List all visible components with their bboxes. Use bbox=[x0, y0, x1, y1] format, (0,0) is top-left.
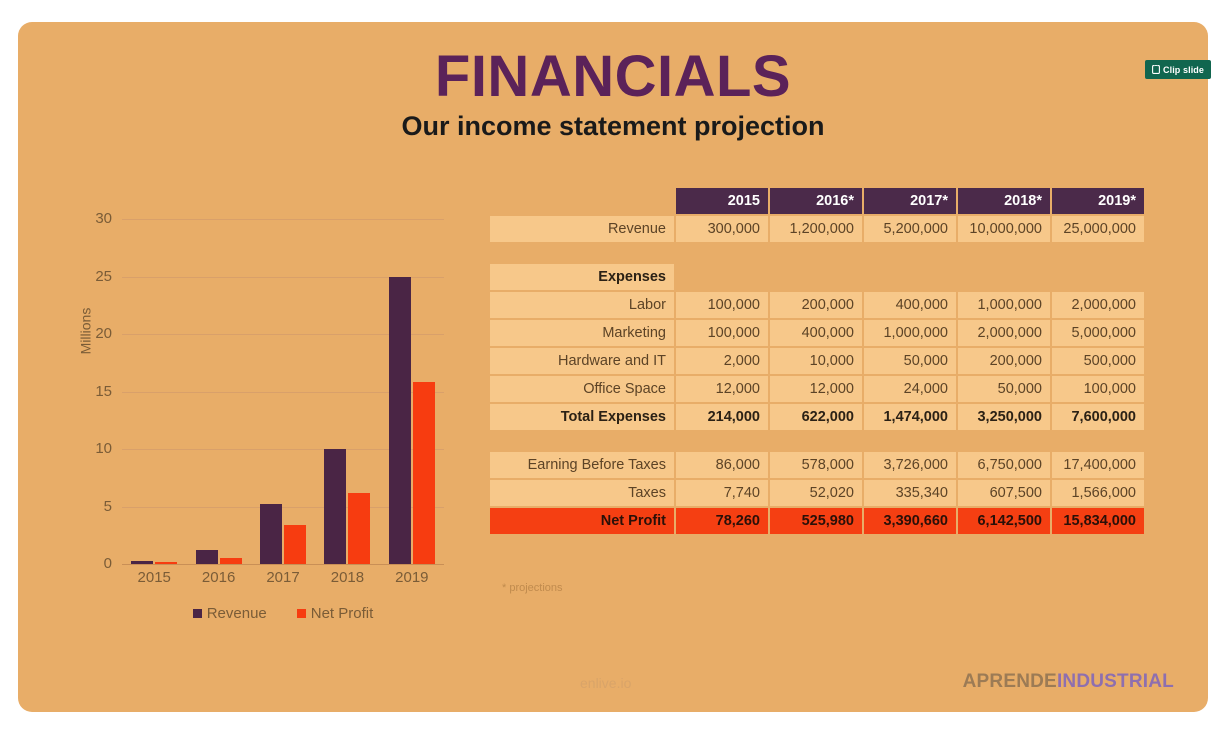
chart-y-tick: 25 bbox=[68, 268, 112, 285]
table-cell bbox=[1052, 264, 1144, 290]
table-cell bbox=[676, 264, 768, 290]
legend-swatch bbox=[193, 609, 202, 618]
chart-bar-group bbox=[122, 219, 186, 564]
chart-y-tick: 10 bbox=[68, 440, 112, 457]
chart-bar bbox=[260, 504, 282, 564]
table-row: Taxes7,74052,020335,340607,5001,566,000 bbox=[490, 480, 1148, 506]
table-cell: 2,000,000 bbox=[958, 320, 1050, 346]
table-row: Expenses bbox=[490, 264, 1148, 290]
projections-footnote: * projections bbox=[502, 582, 563, 594]
clip-icon bbox=[1152, 65, 1160, 74]
table-header-cell: 2018* bbox=[958, 188, 1050, 214]
table-row: Marketing100,000400,0001,000,0002,000,00… bbox=[490, 320, 1148, 346]
table-row: Labor100,000200,000400,0001,000,0002,000… bbox=[490, 292, 1148, 318]
table-cell: 3,390,660 bbox=[864, 508, 956, 534]
table-cell: 52,020 bbox=[770, 480, 862, 506]
chart-plot-area: 302520151050 bbox=[122, 219, 444, 564]
table-cell: 578,000 bbox=[770, 452, 862, 478]
table-cell: 2,000 bbox=[676, 348, 768, 374]
table-cell: 3,726,000 bbox=[864, 452, 956, 478]
table-cell: 100,000 bbox=[676, 292, 768, 318]
chart-bar-group bbox=[315, 219, 379, 564]
table-row-label: Taxes bbox=[490, 480, 674, 506]
table-cell: 1,000,000 bbox=[864, 320, 956, 346]
table-cell: 525,980 bbox=[770, 508, 862, 534]
table-spacer-row bbox=[490, 432, 1148, 450]
chart-x-tick: 2016 bbox=[186, 569, 250, 586]
legend-label: Net Profit bbox=[311, 605, 374, 622]
chart-y-tick: 0 bbox=[68, 555, 112, 572]
chart-bar bbox=[348, 493, 370, 564]
table-cell: 12,000 bbox=[676, 376, 768, 402]
table-row-label: Earning Before Taxes bbox=[490, 452, 674, 478]
chart-bar bbox=[324, 449, 346, 564]
table-cell: 7,740 bbox=[676, 480, 768, 506]
table-row: Total Expenses214,000622,0001,474,0003,2… bbox=[490, 404, 1148, 430]
table-cell: 10,000,000 bbox=[958, 216, 1050, 242]
table-row-label: Net Profit bbox=[490, 508, 674, 534]
table-row-label: Total Expenses bbox=[490, 404, 674, 430]
chart-bar-groups bbox=[122, 219, 444, 564]
brand-word-aprende: APRENDE bbox=[963, 671, 1057, 692]
table-cell: 200,000 bbox=[958, 348, 1050, 374]
table-cell: 6,142,500 bbox=[958, 508, 1050, 534]
table-header-cell: 2015 bbox=[676, 188, 768, 214]
chart-x-tick: 2019 bbox=[380, 569, 444, 586]
table-cell: 2,000,000 bbox=[1052, 292, 1144, 318]
legend-swatch bbox=[297, 609, 306, 618]
brand-logo: APRENDEINDUSTRIAL bbox=[963, 671, 1174, 693]
table-row: Net Profit78,260525,9803,390,6606,142,50… bbox=[490, 508, 1148, 534]
table-row-label: Expenses bbox=[490, 264, 674, 290]
table-cell: 12,000 bbox=[770, 376, 862, 402]
table-header-cell: 2017* bbox=[864, 188, 956, 214]
chart-legend-item: Revenue bbox=[193, 605, 267, 622]
brand-word-industrial: INDUSTRIAL bbox=[1057, 671, 1174, 692]
chart-x-tick: 2017 bbox=[251, 569, 315, 586]
table-cell: 400,000 bbox=[770, 320, 862, 346]
watermark: enlive.io bbox=[580, 675, 631, 691]
table-row: Earning Before Taxes86,000578,0003,726,0… bbox=[490, 452, 1148, 478]
table-row-label: Office Space bbox=[490, 376, 674, 402]
chart-bar-group bbox=[186, 219, 250, 564]
table-cell: 6,750,000 bbox=[958, 452, 1050, 478]
table-cell: 622,000 bbox=[770, 404, 862, 430]
chart-legend: RevenueNet Profit bbox=[122, 605, 444, 622]
chart-x-tick: 2015 bbox=[122, 569, 186, 586]
table-cell: 500,000 bbox=[1052, 348, 1144, 374]
table-cell: 300,000 bbox=[676, 216, 768, 242]
table-cell: 5,000,000 bbox=[1052, 320, 1144, 346]
table-header-row: 20152016*2017*2018*2019* bbox=[490, 188, 1148, 214]
table-header-cell: 2019* bbox=[1052, 188, 1144, 214]
chart-bar bbox=[284, 525, 306, 564]
table-cell: 1,200,000 bbox=[770, 216, 862, 242]
table-cell bbox=[770, 264, 862, 290]
chart-y-tick: 15 bbox=[68, 383, 112, 400]
table-cell: 100,000 bbox=[676, 320, 768, 346]
table-spacer-row bbox=[490, 244, 1148, 262]
table-row-label: Labor bbox=[490, 292, 674, 318]
legend-label: Revenue bbox=[207, 605, 267, 622]
table-cell: 7,600,000 bbox=[1052, 404, 1144, 430]
income-statement-table: 20152016*2017*2018*2019*Revenue300,0001,… bbox=[490, 188, 1148, 536]
table-header-corner bbox=[490, 188, 674, 214]
table-cell: 1,000,000 bbox=[958, 292, 1050, 318]
table-cell: 100,000 bbox=[1052, 376, 1144, 402]
table-row-label: Hardware and IT bbox=[490, 348, 674, 374]
table-cell: 10,000 bbox=[770, 348, 862, 374]
table-row: Office Space12,00012,00024,00050,000100,… bbox=[490, 376, 1148, 402]
chart-bar bbox=[413, 382, 435, 564]
table-cell: 17,400,000 bbox=[1052, 452, 1144, 478]
chart-bar-group bbox=[251, 219, 315, 564]
chart-bar bbox=[155, 562, 177, 564]
table-cell bbox=[864, 264, 956, 290]
chart-y-tick: 30 bbox=[68, 210, 112, 227]
chart-y-tick: 20 bbox=[68, 325, 112, 342]
clip-slide-label: Clip slide bbox=[1163, 65, 1204, 75]
chart-bar bbox=[389, 277, 411, 565]
table-cell: 607,500 bbox=[958, 480, 1050, 506]
table-cell: 5,200,000 bbox=[864, 216, 956, 242]
table-cell: 50,000 bbox=[958, 376, 1050, 402]
table-cell: 24,000 bbox=[864, 376, 956, 402]
table-row: Hardware and IT2,00010,00050,000200,0005… bbox=[490, 348, 1148, 374]
table-cell: 50,000 bbox=[864, 348, 956, 374]
revenue-profit-bar-chart: Millions 302520151050 201520162017201820… bbox=[68, 205, 468, 585]
chart-gridline bbox=[122, 564, 444, 565]
table-cell: 86,000 bbox=[676, 452, 768, 478]
chart-bar bbox=[131, 561, 153, 564]
table-cell: 214,000 bbox=[676, 404, 768, 430]
table-row: Revenue300,0001,200,0005,200,00010,000,0… bbox=[490, 216, 1148, 242]
table-cell: 25,000,000 bbox=[1052, 216, 1144, 242]
chart-x-axis-labels: 20152016201720182019 bbox=[122, 569, 444, 586]
chart-y-tick: 5 bbox=[68, 498, 112, 515]
table-cell: 1,474,000 bbox=[864, 404, 956, 430]
table-cell: 335,340 bbox=[864, 480, 956, 506]
table-cell: 78,260 bbox=[676, 508, 768, 534]
table-cell: 1,566,000 bbox=[1052, 480, 1144, 506]
chart-x-tick: 2018 bbox=[315, 569, 379, 586]
table-cell bbox=[958, 264, 1050, 290]
page-title: FINANCIALS bbox=[0, 48, 1226, 106]
table-cell: 3,250,000 bbox=[958, 404, 1050, 430]
chart-legend-item: Net Profit bbox=[297, 605, 374, 622]
screenshot-root: Clip slide FINANCIALS Our income stateme… bbox=[0, 0, 1226, 735]
page-subtitle: Our income statement projection bbox=[0, 112, 1226, 142]
chart-bar-group bbox=[380, 219, 444, 564]
chart-bar bbox=[196, 550, 218, 564]
table-cell: 15,834,000 bbox=[1052, 508, 1144, 534]
table-row-label: Marketing bbox=[490, 320, 674, 346]
clip-slide-button[interactable]: Clip slide bbox=[1145, 60, 1211, 79]
table-cell: 200,000 bbox=[770, 292, 862, 318]
table-header-cell: 2016* bbox=[770, 188, 862, 214]
table-cell: 400,000 bbox=[864, 292, 956, 318]
table-row-label: Revenue bbox=[490, 216, 674, 242]
chart-bar bbox=[220, 558, 242, 564]
